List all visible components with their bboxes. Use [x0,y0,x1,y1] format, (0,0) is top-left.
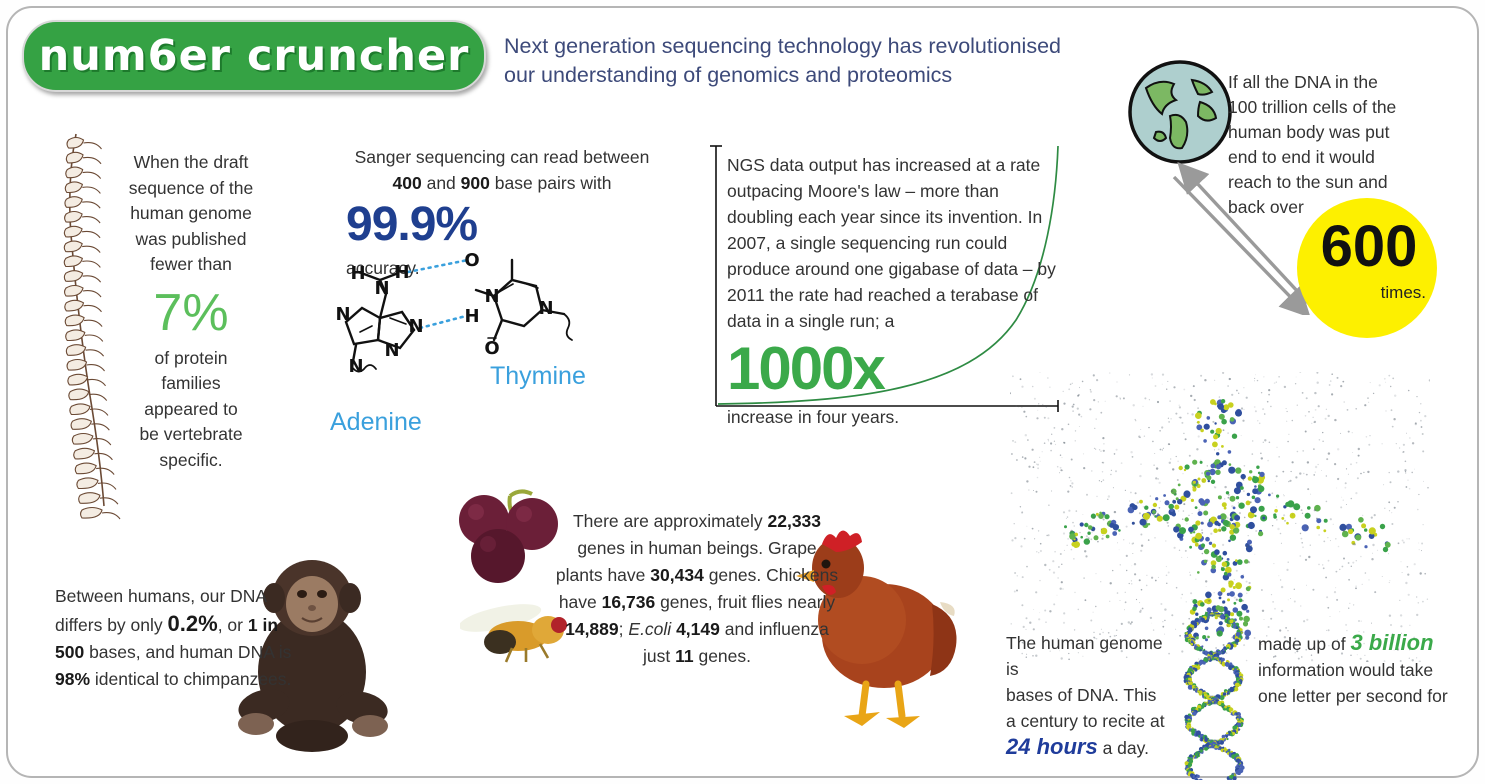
spine-line-9: be vertebrate [139,424,242,444]
genome-left-line-3: a century to recite at [1006,711,1165,731]
spine-text-block: When the draft sequence of the human gen… [106,150,276,473]
atom-n: N [484,286,499,307]
chimp-mid-2: bases, and human DNA is [89,642,291,662]
sanger-low-bp: 400 [393,173,422,193]
sun-distance-unit: times. [1330,283,1426,303]
genes-line6-tail: genes. [698,646,751,666]
genes-line2-tail: genes. [709,565,762,585]
human-gene-count: 22,333 [768,511,822,531]
spine-line-2: sequence of the [129,178,254,198]
genome-left-tail: a day. [1103,738,1149,758]
ecoli-gene-count: 4,149 [676,619,720,639]
spine-line-3: human genome [130,203,252,223]
genes-line5-pre: E.coli [628,619,671,639]
genome-text-left: The human genome is bases of DNA. This a… [1006,630,1176,761]
spine-line-6: of protein [155,348,228,368]
influenza-gene-count: 11 [675,646,694,666]
chimp-mid-1: , or [218,615,243,635]
sanger-line-2-tail: base pairs with [495,173,612,193]
spine-line-8: appeared to [144,399,237,419]
atom-n: N [374,278,389,299]
chimpanzee-text-block: Between humans, our DNA differs by only … [55,583,300,693]
ngs-paragraph: NGS data output has increased at a rate … [727,155,1056,331]
genes-line3-tail: genes, [660,592,713,612]
gene-counts-text-block: There are approximately 22,333 genes in … [552,508,842,670]
sanger-high-bp: 900 [461,173,490,193]
atom-n: N [335,304,350,325]
genes-line1-pre: There are approximately [573,511,763,531]
genome-right-line-2: information would take [1258,660,1433,680]
ngs-tail: increase in four years. [727,407,899,427]
page-title: num6er cruncher [39,31,470,81]
fruitfly-gene-count: 14,889 [565,619,619,639]
spine-line-4: was published [136,229,247,249]
spine-line-10: specific. [159,450,222,470]
title-badge: num6er cruncher [22,20,486,92]
genome-left-line-1: The human genome is [1006,633,1163,679]
dna-difference-stat: 0.2% [168,611,218,636]
recite-duration-stat: 24 hours [1006,734,1098,759]
atom-o: O [464,250,479,271]
genes-line5-tail: and [725,619,754,639]
protein-family-stat: 7% [106,282,276,344]
genome-right-line-3: one letter per second for [1258,686,1448,706]
base-count-stat: 3 billion [1350,630,1433,655]
earth-globe-icon [1126,58,1234,166]
chimp-identity-stat: 98% [55,669,90,689]
genes-line4-pre: fruit flies nearly [717,592,835,612]
page-subtitle: Next generation sequencing technology ha… [504,32,1079,90]
atom-o: O [484,338,499,359]
thymine-label: Thymine [490,362,586,391]
sun-distance-stat: 600 [1310,215,1428,279]
atom-h: H [350,263,365,284]
sanger-and: and [427,173,456,193]
genes-line4-tail: ; [619,619,624,639]
genome-left-line-2: bases of DNA. This [1006,685,1156,705]
sanger-line-1: Sanger sequencing can read between [355,147,650,167]
atom-n: N [408,316,423,337]
adenine-label: Adenine [330,408,422,437]
genes-line1-tail: genes in human beings. [577,538,763,558]
chicken-gene-count: 16,736 [602,592,656,612]
infographic-canvas: num6er cruncher Next generation sequenci… [0,0,1485,784]
atom-n: N [348,356,363,377]
genome-text-right: made up of 3 billion information would t… [1258,630,1476,709]
atom-n: N [538,298,553,319]
atom-h: H [464,306,479,327]
spine-line-5: fewer than [150,254,232,274]
dna-double-helix [1168,612,1260,780]
atom-n: N [384,340,399,361]
spine-line-1: When the draft [134,152,249,172]
grape-gene-count: 30,434 [650,565,704,585]
atom-h: H [394,262,409,283]
spine-line-7: families [161,373,220,393]
chimp-tail: identical to chimpanzees. [95,669,292,689]
genome-right-line-1-pre: made up of [1258,634,1346,654]
